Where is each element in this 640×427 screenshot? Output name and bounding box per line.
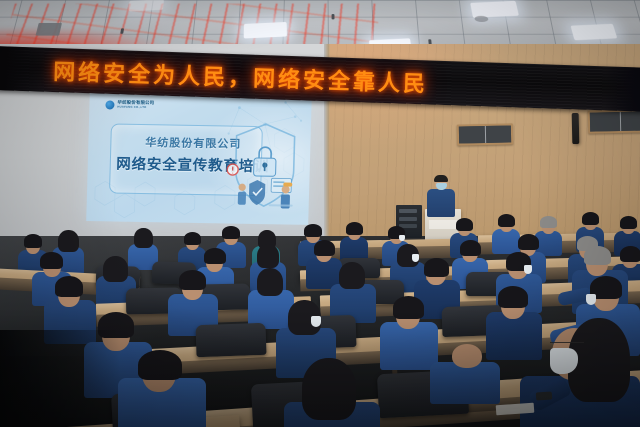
attendee-face-mask bbox=[399, 235, 405, 241]
attendee-hair bbox=[55, 276, 83, 297]
window-pane bbox=[459, 126, 485, 144]
presenter-hair bbox=[434, 175, 448, 182]
attendee-hair bbox=[138, 350, 182, 380]
attendee-hair bbox=[314, 240, 335, 256]
window-right bbox=[588, 109, 640, 133]
attendee-hair bbox=[24, 234, 42, 248]
presenter-uniform bbox=[427, 189, 455, 217]
attendee-face-mask bbox=[412, 254, 419, 262]
ceiling-light-4 bbox=[571, 24, 618, 41]
window-pane bbox=[619, 111, 640, 131]
wall-speaker bbox=[572, 113, 580, 144]
attendee-hair bbox=[103, 256, 128, 282]
attendee-hair bbox=[393, 296, 424, 319]
led-banner-left-fade bbox=[0, 46, 50, 92]
attendee-hair bbox=[582, 212, 599, 225]
attendee-hair bbox=[40, 252, 63, 269]
attendee-face-mask bbox=[586, 294, 596, 305]
attendee-uniform bbox=[486, 312, 542, 360]
attendee-hair bbox=[540, 216, 557, 228]
presenter bbox=[424, 176, 458, 216]
attendee-hair bbox=[134, 228, 153, 248]
ceiling-light-5 bbox=[128, 0, 164, 11]
attendee-hair bbox=[184, 232, 201, 245]
ceiling-light-1 bbox=[244, 22, 287, 39]
attendee-hair bbox=[460, 240, 481, 256]
attendee-uniform bbox=[430, 362, 500, 404]
window-pane bbox=[484, 125, 511, 143]
attendee-head bbox=[452, 344, 482, 368]
logo-mark-icon bbox=[105, 100, 114, 109]
attendee-hair bbox=[346, 222, 363, 235]
attendee-hair bbox=[304, 224, 322, 237]
training-room-photo: 华纺股份有限公司 HUAFANG CO.,LTD 华纺股份有限公司 网络安全宣传… bbox=[0, 0, 640, 427]
ceiling-sensor-3 bbox=[332, 14, 335, 19]
attendee-uniform bbox=[380, 322, 438, 370]
led-banner-text: 网络安全为人民，网络安全靠人民 bbox=[53, 54, 429, 98]
attendee-hair bbox=[339, 262, 365, 289]
attendee-hair bbox=[204, 248, 226, 264]
presenter-face-mask bbox=[436, 183, 447, 190]
attendee-hair bbox=[584, 246, 611, 265]
slide-logo: 华纺股份有限公司 HUAFANG CO.,LTD bbox=[105, 100, 154, 110]
projection-screen: 华纺股份有限公司 HUAFANG CO.,LTD 华纺股份有限公司 网络安全宣传… bbox=[86, 91, 312, 225]
attendee-hair bbox=[179, 270, 206, 290]
ceiling-speaker-dome bbox=[474, 16, 488, 22]
attendee-face-mask bbox=[524, 265, 532, 274]
attendee-hair bbox=[620, 216, 637, 229]
phone-on-desk bbox=[536, 391, 553, 400]
attendee-hair bbox=[498, 214, 515, 227]
attendee-face-mask bbox=[311, 316, 321, 327]
logo-company-en: HUAFANG CO.,LTD bbox=[117, 106, 154, 109]
attendee-hair bbox=[222, 226, 240, 239]
attendee-uniform bbox=[492, 229, 520, 254]
cybersecurity-illustration bbox=[222, 117, 307, 218]
attendee-hair bbox=[257, 268, 283, 296]
foreground-shadow bbox=[0, 330, 120, 427]
attendee-hair bbox=[456, 218, 473, 231]
attendee-hair bbox=[620, 246, 640, 262]
attendee-hair bbox=[302, 358, 356, 420]
chair bbox=[195, 323, 266, 357]
attendee-hair bbox=[498, 286, 528, 308]
attendee-glasses bbox=[550, 342, 584, 346]
attendee-hair bbox=[518, 234, 539, 250]
window-left bbox=[457, 123, 513, 145]
attendee-hair bbox=[257, 244, 279, 268]
attendee-hair bbox=[424, 258, 449, 277]
attendee-hair bbox=[58, 230, 79, 252]
window-pane bbox=[590, 112, 620, 132]
ceiling-vent bbox=[36, 23, 62, 36]
led-banner-right-fade bbox=[604, 66, 640, 112]
